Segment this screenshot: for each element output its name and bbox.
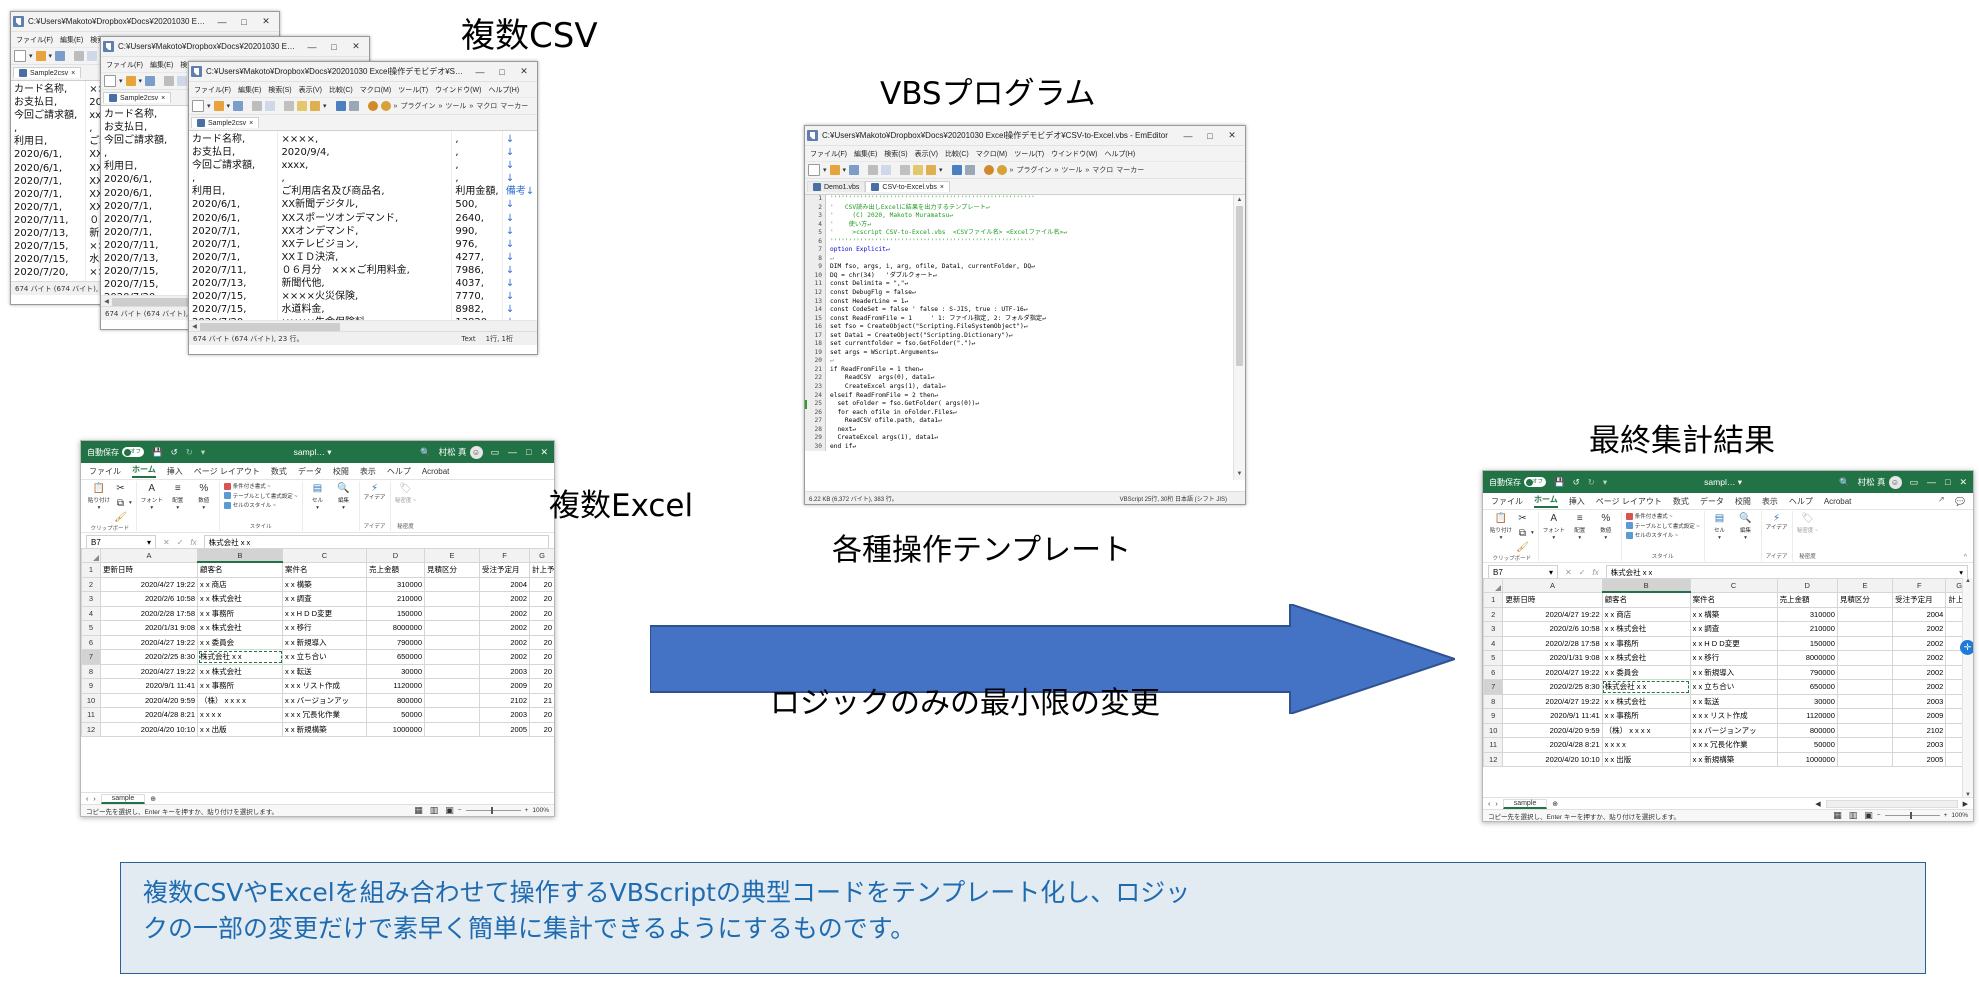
toolbar[interactable]: ▾ ▾ ▾ » プラグイン » ツール » マクロ マーカー bbox=[189, 98, 537, 115]
sheet-tab-sample[interactable]: sample bbox=[1503, 799, 1548, 809]
view-controls[interactable]: ▦ ▥ ▣ − + 100% bbox=[414, 805, 549, 816]
find-icon[interactable] bbox=[368, 101, 378, 111]
table-cell[interactable]: 2004 bbox=[480, 577, 530, 592]
code-text[interactable]: ' CSV読み出しExcelに結果を出力するテンプレート↵ bbox=[826, 204, 990, 213]
code-text[interactable]: DQ = chr(34) 'ダブルクォート↵ bbox=[826, 272, 937, 281]
csv-column-remark[interactable]: ↓ ↓ ↓ ↓ 備考↓ ↓ ↓ ↓ ↓ ↓ ↓ ↓ ↓ ↓ ↓ ↓ ↓ ↓ ↓ … bbox=[503, 131, 537, 345]
minimize-icon[interactable]: — bbox=[469, 63, 491, 81]
code-text[interactable]: set Data1 = CreateObject("Scripting.Dict… bbox=[826, 332, 1013, 341]
ideas-button[interactable]: ⚡アイデア bbox=[1766, 512, 1788, 532]
customize-qat-icon[interactable]: ▾ bbox=[201, 447, 205, 458]
toolbar-tools[interactable]: ツール bbox=[1061, 165, 1082, 175]
save-icon[interactable]: 💾 bbox=[152, 447, 163, 458]
table-cell[interactable]: 2020/2/6 10:58 bbox=[101, 592, 198, 607]
excel-titlebar[interactable]: 自動保存 オフ 💾 ↺ ↻ ▾ sampl… ▾ 🔍 村松 真 ☺ ▭ — □ … bbox=[81, 441, 554, 463]
search-icon[interactable]: 🔍 bbox=[1839, 477, 1850, 488]
chevron-down-icon[interactable]: ▾ bbox=[147, 538, 151, 547]
ribbon-group-cells-editing[interactable]: ▤セル▾ 🔍編集▾ bbox=[303, 481, 360, 531]
table-row[interactable]: 112020/4/28 8:21x x x xx x x 冗長化作業500002… bbox=[1484, 738, 1973, 753]
editing-button[interactable]: 🔍編集▾ bbox=[1735, 512, 1757, 541]
table-cell[interactable]: 2020/1/31 9:08 bbox=[1503, 651, 1602, 666]
table-cell[interactable]: 2020/4/28 8:21 bbox=[1503, 738, 1602, 753]
table-cell[interactable]: x x 株式会社 bbox=[1602, 651, 1690, 666]
table-cell[interactable]: x x x 冗長化作業 bbox=[1690, 738, 1777, 753]
table-cell[interactable]: 20 bbox=[530, 664, 555, 679]
new-icon[interactable] bbox=[104, 75, 116, 87]
tab-acrobat[interactable]: Acrobat bbox=[1824, 497, 1852, 506]
chevron-down-icon[interactable]: ▾ bbox=[939, 166, 943, 174]
row-header[interactable]: 7 bbox=[1484, 680, 1503, 695]
chevron-down-icon[interactable]: ▾ bbox=[227, 102, 231, 110]
table-cell[interactable]: 2020/4/20 9:59 bbox=[1503, 723, 1602, 738]
ribbon-tabs[interactable]: ファイル ホーム 挿入 ページ レイアウト 数式 データ 校閲 表示 ヘルプ A… bbox=[1483, 493, 1973, 510]
row-header[interactable]: 4 bbox=[1484, 636, 1503, 651]
tab-formulas[interactable]: 数式 bbox=[1673, 496, 1689, 507]
ribbon-group-clipboard[interactable]: 📋 貼り付け ▾ ✂ ⧉▾ 🖌 クリップボード bbox=[84, 481, 137, 531]
row-header[interactable]: 10 bbox=[82, 693, 101, 708]
table-cell[interactable]: 2020/4/27 19:22 bbox=[1503, 694, 1602, 709]
view-mode-icons[interactable]: ▦ ▥ ▣ bbox=[414, 805, 454, 816]
vertical-scrollbar[interactable]: ▲ ▼ bbox=[1233, 195, 1245, 480]
tab-help[interactable]: ヘルプ bbox=[387, 466, 411, 477]
table-cell[interactable] bbox=[425, 606, 480, 621]
chevron-down-icon[interactable]: ▾ bbox=[342, 505, 345, 511]
sheet-tab-sample[interactable]: sample bbox=[101, 794, 146, 804]
table-cell[interactable] bbox=[425, 635, 480, 650]
add-sheet-icon[interactable]: ⊕ bbox=[1552, 800, 1558, 808]
redo-icon[interactable]: ↻ bbox=[186, 447, 193, 458]
table-cell[interactable] bbox=[1837, 680, 1892, 695]
code-text[interactable]: set fso = CreateObject("Scripting.FileSy… bbox=[826, 323, 1027, 332]
table-cell[interactable]: 800000 bbox=[367, 693, 425, 708]
minimize-icon[interactable]: — bbox=[1927, 477, 1936, 488]
table-cell[interactable]: 2020/4/27 19:22 bbox=[101, 635, 198, 650]
open-icon[interactable] bbox=[214, 101, 224, 111]
chevron-down-icon[interactable]: ▾ bbox=[29, 52, 33, 60]
workbook-name[interactable]: sampl… ▾ bbox=[1615, 477, 1831, 488]
table-cell[interactable]: 2002 bbox=[480, 606, 530, 621]
ribbon-group-ideas[interactable]: ⚡アイデア アイデア bbox=[1762, 511, 1793, 561]
chevron-down-icon[interactable]: ▾ bbox=[1604, 535, 1607, 541]
autosave-toggle[interactable]: 自動保存 オフ bbox=[1489, 477, 1546, 488]
tab-review[interactable]: 校閲 bbox=[1735, 496, 1751, 507]
copy-icon[interactable] bbox=[913, 165, 923, 175]
chevron-down-icon[interactable]: ▾ bbox=[1578, 535, 1581, 541]
table-row[interactable]: 122020/4/20 10:10x x 出版x x 新規構築100000020… bbox=[1484, 752, 1973, 767]
column-header-d[interactable]: D bbox=[367, 549, 425, 563]
grid-body[interactable]: 1更新日時顧客名案件名売上金額見積区分受注予定月計上予22020/4/27 19… bbox=[1484, 592, 1973, 767]
sensitivity-button[interactable]: 🏷秘密度 ~ bbox=[1797, 512, 1819, 534]
column-header-e[interactable]: E bbox=[1837, 579, 1892, 593]
column-header-a[interactable]: A bbox=[101, 549, 198, 563]
tab-help[interactable]: ヘルプ bbox=[1789, 496, 1813, 507]
table-cell[interactable]: x x 新規構築 bbox=[1690, 752, 1777, 767]
table-cell[interactable] bbox=[1837, 694, 1892, 709]
row-header[interactable]: 5 bbox=[1484, 651, 1503, 666]
select-all-corner[interactable] bbox=[1484, 579, 1503, 593]
code-text[interactable]: const CodeSet = false ' false : S-JIS, t… bbox=[826, 306, 1027, 315]
table-cell[interactable] bbox=[425, 708, 480, 723]
csv-column-date[interactable]: カード名称, お支払日, 今回ご請求額, , 利用日, 2020/6/1, 20… bbox=[11, 81, 86, 295]
tab-view[interactable]: 表示 bbox=[360, 466, 376, 477]
table-cell[interactable]: x x x リスト作成 bbox=[283, 679, 367, 694]
table-row[interactable]: 122020/4/20 10:10x x 出版x x 新規構築100000020… bbox=[82, 722, 555, 737]
zoom-out-icon[interactable]: − bbox=[458, 807, 462, 814]
tab-page-layout[interactable]: ページ レイアウト bbox=[1596, 496, 1662, 507]
save-icon[interactable]: 💾 bbox=[1554, 477, 1565, 488]
customize-qat-icon[interactable]: ▾ bbox=[1603, 477, 1607, 488]
table-cell[interactable]: 30000 bbox=[367, 664, 425, 679]
ideas-button[interactable]: ⚡アイデア bbox=[364, 482, 386, 502]
normal-view-icon[interactable]: ▦ bbox=[1833, 810, 1842, 821]
close-icon[interactable]: ✕ bbox=[540, 447, 548, 458]
toolbar-plugins[interactable]: プラグイン bbox=[400, 101, 435, 111]
chevron-down-icon[interactable]: ▾ bbox=[843, 166, 847, 174]
table-cell[interactable]: 210000 bbox=[367, 592, 425, 607]
chevron-down-icon[interactable]: ▾ bbox=[1549, 568, 1553, 577]
table-cell[interactable] bbox=[1837, 723, 1892, 738]
code-text[interactable]: elseif ReadFromFile = 2 then↵ bbox=[826, 392, 938, 401]
table-header-cell[interactable]: 売上金額 bbox=[1777, 592, 1837, 607]
csv-window-3[interactable]: C:¥Users¥Makoto¥Dropbox¥Docs¥20201030 Ex… bbox=[188, 61, 538, 355]
table-cell[interactable]: 2020/4/28 8:21 bbox=[101, 708, 198, 723]
table-header-cell[interactable]: 更新日時 bbox=[101, 562, 198, 577]
row-header[interactable]: 11 bbox=[1484, 738, 1503, 753]
formula-buttons[interactable]: ✕ ✓ fx bbox=[156, 538, 204, 547]
next-sheet-icon[interactable]: › bbox=[1495, 801, 1497, 808]
row-header[interactable]: 3 bbox=[1484, 622, 1503, 637]
chevron-down-icon[interactable]: ▾ bbox=[119, 77, 123, 85]
row-header[interactable]: 1 bbox=[82, 562, 101, 577]
table-cell[interactable]: x x 商店 bbox=[198, 577, 283, 592]
scroll-up-icon[interactable]: ▲ bbox=[1234, 195, 1245, 206]
chevron-down-icon[interactable]: ▾ bbox=[129, 500, 132, 506]
table-cell[interactable]: x x 株式会社 bbox=[198, 592, 283, 607]
row-header[interactable]: 5 bbox=[82, 621, 101, 636]
table-cell[interactable]: 20 bbox=[530, 708, 555, 723]
table-header-row[interactable]: 1更新日時顧客名案件名売上金額見積区分受注予定月計上予 bbox=[82, 562, 555, 577]
find-icon[interactable] bbox=[984, 165, 994, 175]
tab-home[interactable]: ホーム bbox=[1534, 494, 1558, 508]
code-editor[interactable]: 1'''''''''''''''''''''''''''''''''''''''… bbox=[805, 195, 1234, 480]
cells-button[interactable]: ▤セル▾ bbox=[307, 482, 329, 511]
code-text[interactable]: CreateExcel args(1), data1↵ bbox=[826, 434, 938, 443]
alignment-button[interactable]: ≡配置▾ bbox=[1569, 512, 1591, 541]
window-titlebar[interactable]: C:¥Users¥Makoto¥Dropbox¥Docs¥20201030 Ex… bbox=[11, 12, 279, 32]
code-text[interactable]: set args = WScript.Arguments↵ bbox=[826, 349, 938, 358]
table-cell[interactable]: x x H D D変更 bbox=[1690, 636, 1777, 651]
table-cell[interactable]: 20 bbox=[530, 577, 555, 592]
expand-formula-bar-icon[interactable]: ▾ bbox=[1959, 568, 1963, 577]
minimize-icon[interactable]: — bbox=[211, 13, 233, 31]
document-tabs[interactable]: Demo1.vbs CSV-to-Excel.vbs × bbox=[805, 179, 1245, 195]
window-controls[interactable]: — □ ✕ bbox=[301, 38, 367, 56]
replace-icon[interactable] bbox=[381, 101, 391, 111]
window-controls[interactable]: ▭ — □ ✕ bbox=[491, 447, 549, 458]
excel-window-result[interactable]: 自動保存 オフ 💾 ↺ ↻ ▾ sampl… ▾ 🔍 村松 真 ☺ ▭ — □ … bbox=[1482, 470, 1974, 822]
close-icon[interactable]: ✕ bbox=[1959, 477, 1967, 488]
workbook-name[interactable]: sampl… ▾ bbox=[213, 447, 412, 458]
table-cell[interactable]: 2020/2/28 17:58 bbox=[1503, 636, 1602, 651]
hscroll-left-icon[interactable]: ◀ bbox=[1815, 800, 1820, 808]
new-icon[interactable] bbox=[192, 100, 204, 112]
quick-analysis-icon[interactable]: ✛ bbox=[1960, 640, 1973, 655]
zoom-level[interactable]: 100% bbox=[1951, 812, 1968, 819]
table-row[interactable]: 32020/2/6 10:58x x 株式会社x x 調査21000020022… bbox=[1484, 622, 1973, 637]
menu-help[interactable]: ヘルプ(H) bbox=[488, 85, 519, 95]
save-icon[interactable] bbox=[55, 51, 65, 61]
maximize-icon[interactable]: □ bbox=[233, 13, 255, 31]
table-cell[interactable]: x x 構築 bbox=[283, 577, 367, 592]
table-cell[interactable]: x x 事務所 bbox=[198, 679, 283, 694]
table-cell[interactable] bbox=[1837, 651, 1892, 666]
tab-insert[interactable]: 挿入 bbox=[1569, 496, 1585, 507]
table-cell[interactable]: 2005 bbox=[480, 722, 530, 737]
add-sheet-icon[interactable]: ⊕ bbox=[150, 795, 156, 803]
window-controls[interactable]: — □ ✕ bbox=[469, 63, 535, 81]
chevron-down-icon[interactable]: ▾ bbox=[1744, 535, 1747, 541]
code-text[interactable]: set oFolder = fso.GetFolder( args(0))↵ bbox=[826, 400, 979, 409]
zoom-slider[interactable] bbox=[1885, 815, 1940, 816]
cut-icon[interactable] bbox=[284, 101, 294, 111]
zoom-out-icon[interactable]: − bbox=[1877, 812, 1881, 819]
column-header-c[interactable]: C bbox=[1690, 579, 1777, 593]
cancel-icon[interactable]: ✕ bbox=[1565, 568, 1572, 577]
formula-buttons[interactable]: ✕ ✓ fx bbox=[1558, 568, 1606, 577]
table-header-cell[interactable]: 見積区分 bbox=[1837, 592, 1892, 607]
table-cell[interactable]: 800000 bbox=[1777, 723, 1837, 738]
spreadsheet-grid[interactable]: A B C D E F G 1更新日時顧客名案件名売上金額見積区分受注予定月計上… bbox=[1483, 578, 1973, 798]
table-cell[interactable]: 20 bbox=[530, 722, 555, 737]
code-text[interactable]: option Explicit↵ bbox=[826, 246, 890, 255]
minimize-icon[interactable]: — bbox=[1177, 127, 1199, 145]
table-cell[interactable]: 2003 bbox=[1893, 738, 1946, 753]
table-cell[interactable]: 2020/9/1 11:41 bbox=[1503, 709, 1602, 724]
table-cell[interactable]: 2020/2/6 10:58 bbox=[1503, 622, 1602, 637]
redo-icon[interactable] bbox=[965, 165, 975, 175]
number-button[interactable]: %数値▾ bbox=[193, 482, 215, 511]
tab-csv-to-excel-vbs[interactable]: CSV-to-Excel.vbs × bbox=[865, 181, 950, 192]
row-header[interactable]: 1 bbox=[1484, 592, 1503, 607]
window-controls[interactable]: — □ ✕ bbox=[211, 13, 277, 31]
code-text[interactable]: ↵ bbox=[826, 357, 834, 366]
prev-sheet-icon[interactable]: ‹ bbox=[86, 796, 88, 803]
table-cell[interactable]: （株） x x x x bbox=[198, 693, 283, 708]
table-row[interactable]: 52020/1/31 9:08x x 株式会社x x 移行80000002002… bbox=[1484, 651, 1973, 666]
table-cell[interactable] bbox=[1837, 665, 1892, 680]
csv-column-amount[interactable]: , , , , 利用金額, 500, 2640, 990, 976, 4277,… bbox=[452, 131, 503, 345]
table-cell[interactable]: 1000000 bbox=[367, 722, 425, 737]
table-cell[interactable]: 2009 bbox=[1893, 709, 1946, 724]
format-as-table-button[interactable]: テーブルとして書式設定 ~ bbox=[224, 492, 298, 500]
code-text[interactable]: ' 使い方↵ bbox=[826, 221, 871, 230]
tab-demo1-vbs[interactable]: Demo1.vbs bbox=[807, 181, 865, 192]
minimize-icon[interactable]: — bbox=[508, 447, 517, 458]
scroll-up-icon[interactable]: ▲ bbox=[1963, 578, 1973, 584]
page-break-icon[interactable]: ▣ bbox=[445, 805, 454, 816]
code-text[interactable]: ReadCSV ofile.path, data1↵ bbox=[826, 417, 942, 426]
table-cell[interactable]: 2002 bbox=[1893, 665, 1946, 680]
code-text[interactable]: const DebugFlg = false↵ bbox=[826, 289, 916, 298]
code-text[interactable]: DIM fso, args, i, arg, ofile, Data1, cur… bbox=[826, 263, 1035, 272]
table-cell[interactable]: 2020/4/20 10:10 bbox=[101, 722, 198, 737]
code-text[interactable]: ' (C) 2020, Makoto Muramatsu↵ bbox=[826, 212, 953, 221]
table-cell[interactable]: 21 bbox=[530, 693, 555, 708]
hscroll-right-icon[interactable]: ▶ bbox=[1963, 800, 1968, 808]
table-cell[interactable] bbox=[1837, 709, 1892, 724]
table-row[interactable]: 22020/4/27 19:22x x 商店x x 構築310000200420 bbox=[1484, 607, 1973, 622]
ribbon-group-ideas[interactable]: ⚡アイデア アイデア bbox=[360, 481, 391, 531]
preview-icon[interactable] bbox=[881, 165, 891, 175]
chevron-down-icon[interactable]: ▾ bbox=[1531, 530, 1534, 536]
table-cell[interactable] bbox=[425, 722, 480, 737]
table-cell[interactable]: 2002 bbox=[480, 650, 530, 665]
maximize-icon[interactable]: □ bbox=[1945, 477, 1950, 488]
confirm-icon[interactable]: ✓ bbox=[1579, 568, 1586, 577]
conditional-format-button[interactable]: 条件付き書式 ~ bbox=[224, 482, 271, 490]
paste-icon[interactable] bbox=[926, 165, 936, 175]
replace-icon[interactable] bbox=[997, 165, 1007, 175]
table-cell[interactable]: x x 調査 bbox=[283, 592, 367, 607]
toolbar-marker[interactable]: マーカー bbox=[1116, 165, 1144, 175]
column-header-b[interactable]: B bbox=[1602, 579, 1690, 593]
ribbon-group-sensitivity[interactable]: 🏷秘密度 ~ 秘密度 bbox=[391, 481, 421, 531]
csv-column-date[interactable]: カード名称, お支払日, 今回ご請求額, , 利用日, 2020/6/1, 20… bbox=[101, 106, 192, 320]
row-header[interactable]: 9 bbox=[1484, 709, 1503, 724]
open-icon[interactable] bbox=[36, 51, 46, 61]
table-cell[interactable]: x x 株式会社 bbox=[1602, 694, 1690, 709]
table-cell[interactable]: 150000 bbox=[1777, 636, 1837, 651]
account-info[interactable]: 村松 真 ☺ bbox=[1858, 476, 1902, 489]
redo-icon[interactable]: ↻ bbox=[1588, 477, 1595, 488]
ribbon-group-font-align-number[interactable]: Aフォント▾ ≡配置▾ %数値▾ bbox=[137, 481, 220, 531]
undo-icon[interactable] bbox=[336, 101, 346, 111]
table-cell[interactable]: x x 事務所 bbox=[198, 606, 283, 621]
table-cell[interactable]: x x 株式会社 bbox=[1602, 622, 1690, 637]
menu-window[interactable]: ウインドウ(W) bbox=[1051, 149, 1097, 159]
code-text[interactable]: ' >cscript CSV-to-Excel.vbs <CSVファイル名> <… bbox=[826, 229, 1067, 238]
table-cell[interactable]: x x 転送 bbox=[1690, 694, 1777, 709]
ribbon-tabs[interactable]: ファイル ホーム 挿入 ページ レイアウト 数式 データ 校閲 表示 ヘルプ A… bbox=[81, 463, 554, 480]
open-icon[interactable] bbox=[126, 76, 136, 86]
table-cell[interactable]: x x 立ち合い bbox=[1690, 680, 1777, 695]
table-cell[interactable]: x x 構築 bbox=[1690, 607, 1777, 622]
zoom-in-icon[interactable]: + bbox=[525, 807, 529, 814]
editing-button[interactable]: 🔍編集▾ bbox=[333, 482, 355, 511]
normal-view-icon[interactable]: ▦ bbox=[414, 805, 423, 816]
ribbon-group-sensitivity[interactable]: 🏷秘密度 ~ 秘密度 bbox=[1793, 511, 1823, 561]
maximize-icon[interactable]: □ bbox=[491, 63, 513, 81]
table-header-cell[interactable]: 更新日時 bbox=[1503, 592, 1602, 607]
table-row[interactable]: 102020/4/20 9:59（株） x x x xx x バージョンアッ80… bbox=[82, 693, 555, 708]
chevron-down-icon[interactable]: ▾ bbox=[207, 102, 211, 110]
page-break-icon[interactable]: ▣ bbox=[1864, 810, 1873, 821]
save-icon[interactable] bbox=[849, 165, 859, 175]
chevron-down-icon[interactable]: ▾ bbox=[202, 505, 205, 511]
table-row[interactable]: 72020/2/25 8:30株式会社 x xx x 立ち合い650000200… bbox=[82, 650, 555, 665]
view-controls[interactable]: ▦ ▥ ▣ − + 100% bbox=[1833, 810, 1968, 821]
copy-button[interactable]: ⧉▾ bbox=[1516, 527, 1534, 540]
grid-table[interactable]: A B C D E F G 1更新日時顧客名案件名売上金額見積区分受注予定月計上… bbox=[1483, 578, 1973, 767]
tab-review[interactable]: 校閲 bbox=[333, 466, 349, 477]
row-header[interactable]: 3 bbox=[82, 592, 101, 607]
grid-body[interactable]: 1更新日時顧客名案件名売上金額見積区分受注予定月計上予22020/4/27 19… bbox=[82, 562, 555, 737]
maximize-icon[interactable]: □ bbox=[323, 38, 345, 56]
table-cell[interactable]: 650000 bbox=[1777, 680, 1837, 695]
format-as-table-button[interactable]: テーブルとして書式設定 ~ bbox=[1626, 522, 1700, 530]
table-row[interactable]: 72020/2/25 8:30株式会社 x xx x 立ち合い650000200… bbox=[1484, 680, 1973, 695]
ribbon-group-cells-editing[interactable]: ▤セル▾ 🔍編集▾ bbox=[1705, 511, 1762, 561]
menu-window[interactable]: ウインドウ(W) bbox=[435, 85, 481, 95]
code-text[interactable]: CreateExcel args(1), data1↵ bbox=[826, 383, 945, 392]
column-header-row[interactable]: A B C D E F G bbox=[1484, 579, 1973, 593]
table-cell[interactable]: 2002 bbox=[1893, 651, 1946, 666]
cell-styles-button[interactable]: セルのスタイル ~ bbox=[1626, 531, 1678, 539]
table-row[interactable]: 52020/1/31 9:08x x 株式会社x x 移行80000002002… bbox=[82, 621, 555, 636]
table-cell[interactable]: 790000 bbox=[1777, 665, 1837, 680]
table-cell[interactable]: 2020/1/31 9:08 bbox=[101, 621, 198, 636]
ribbon-group-clipboard[interactable]: 📋 貼り付け ▾ ✂ ⧉▾ 🖌 クリップボード bbox=[1486, 511, 1539, 561]
tab-view[interactable]: 表示 bbox=[1762, 496, 1778, 507]
table-cell[interactable]: 2004 bbox=[1893, 607, 1946, 622]
preview-icon[interactable] bbox=[265, 101, 275, 111]
table-cell[interactable]: 150000 bbox=[367, 606, 425, 621]
table-cell[interactable]: 2005 bbox=[1893, 752, 1946, 767]
code-text[interactable]: set currentfolder = fso.GetFolder(".")↵ bbox=[826, 340, 975, 349]
cut-button[interactable]: ✂ bbox=[1516, 512, 1534, 525]
row-header[interactable]: 10 bbox=[1484, 723, 1503, 738]
table-cell[interactable]: x x 商店 bbox=[1602, 607, 1690, 622]
table-cell[interactable]: 20 bbox=[530, 606, 555, 621]
menu-compare[interactable]: 比較(C) bbox=[329, 85, 353, 95]
table-cell[interactable]: x x 事務所 bbox=[1602, 709, 1690, 724]
csv-text-area[interactable]: カード名称, お支払日, 今回ご請求額, , 利用日, 2020/6/1, 20… bbox=[189, 131, 537, 345]
column-header-f[interactable]: F bbox=[1893, 579, 1946, 593]
table-row[interactable]: 22020/4/27 19:22x x 商店x x 構築310000200420 bbox=[82, 577, 555, 592]
table-row[interactable]: 62020/4/27 19:22x x 委員会x x 新規導入790000200… bbox=[1484, 665, 1973, 680]
table-cell[interactable]: 2020/2/28 17:58 bbox=[101, 606, 198, 621]
alignment-button[interactable]: ≡配置▾ bbox=[167, 482, 189, 511]
avatar[interactable]: ☺ bbox=[1889, 476, 1902, 489]
chevron-down-icon[interactable]: ▾ bbox=[1552, 535, 1555, 541]
tab-home[interactable]: ホーム bbox=[132, 464, 156, 478]
chevron-down-icon[interactable]: ▾ bbox=[1500, 535, 1503, 541]
menu-edit[interactable]: 編集(E) bbox=[150, 60, 173, 70]
table-cell[interactable]: 2020/2/25 8:30 bbox=[1503, 680, 1602, 695]
print-icon[interactable] bbox=[164, 76, 174, 86]
ribbon-display-icon[interactable]: ▭ bbox=[1910, 477, 1919, 488]
row-header[interactable]: 2 bbox=[1484, 607, 1503, 622]
menu-macro[interactable]: マクロ(M) bbox=[360, 85, 392, 95]
table-cell[interactable]: x x 出版 bbox=[198, 722, 283, 737]
table-cell[interactable] bbox=[425, 679, 480, 694]
toolbar-tools[interactable]: ツール bbox=[445, 101, 466, 111]
table-header-cell[interactable]: 計上予 bbox=[530, 562, 555, 577]
code-text[interactable]: const Delimita = ","↵ bbox=[826, 280, 908, 289]
code-text[interactable]: if ReadFromFile = 1 then↵ bbox=[826, 366, 923, 375]
table-cell[interactable]: 2002 bbox=[480, 592, 530, 607]
toolbar-macro[interactable]: マクロ bbox=[1092, 165, 1113, 175]
copy-button[interactable]: ⧉▾ bbox=[114, 497, 132, 510]
print-icon[interactable] bbox=[252, 101, 262, 111]
copy-icon[interactable] bbox=[297, 101, 307, 111]
chevron-down-icon[interactable]: ▾ bbox=[316, 505, 319, 511]
insert-function-icon[interactable]: fx bbox=[190, 538, 196, 547]
cells-button[interactable]: ▤セル▾ bbox=[1709, 512, 1731, 541]
table-cell[interactable]: x x x x bbox=[1602, 738, 1690, 753]
undo-icon[interactable] bbox=[952, 165, 962, 175]
tab-data[interactable]: データ bbox=[298, 466, 322, 477]
